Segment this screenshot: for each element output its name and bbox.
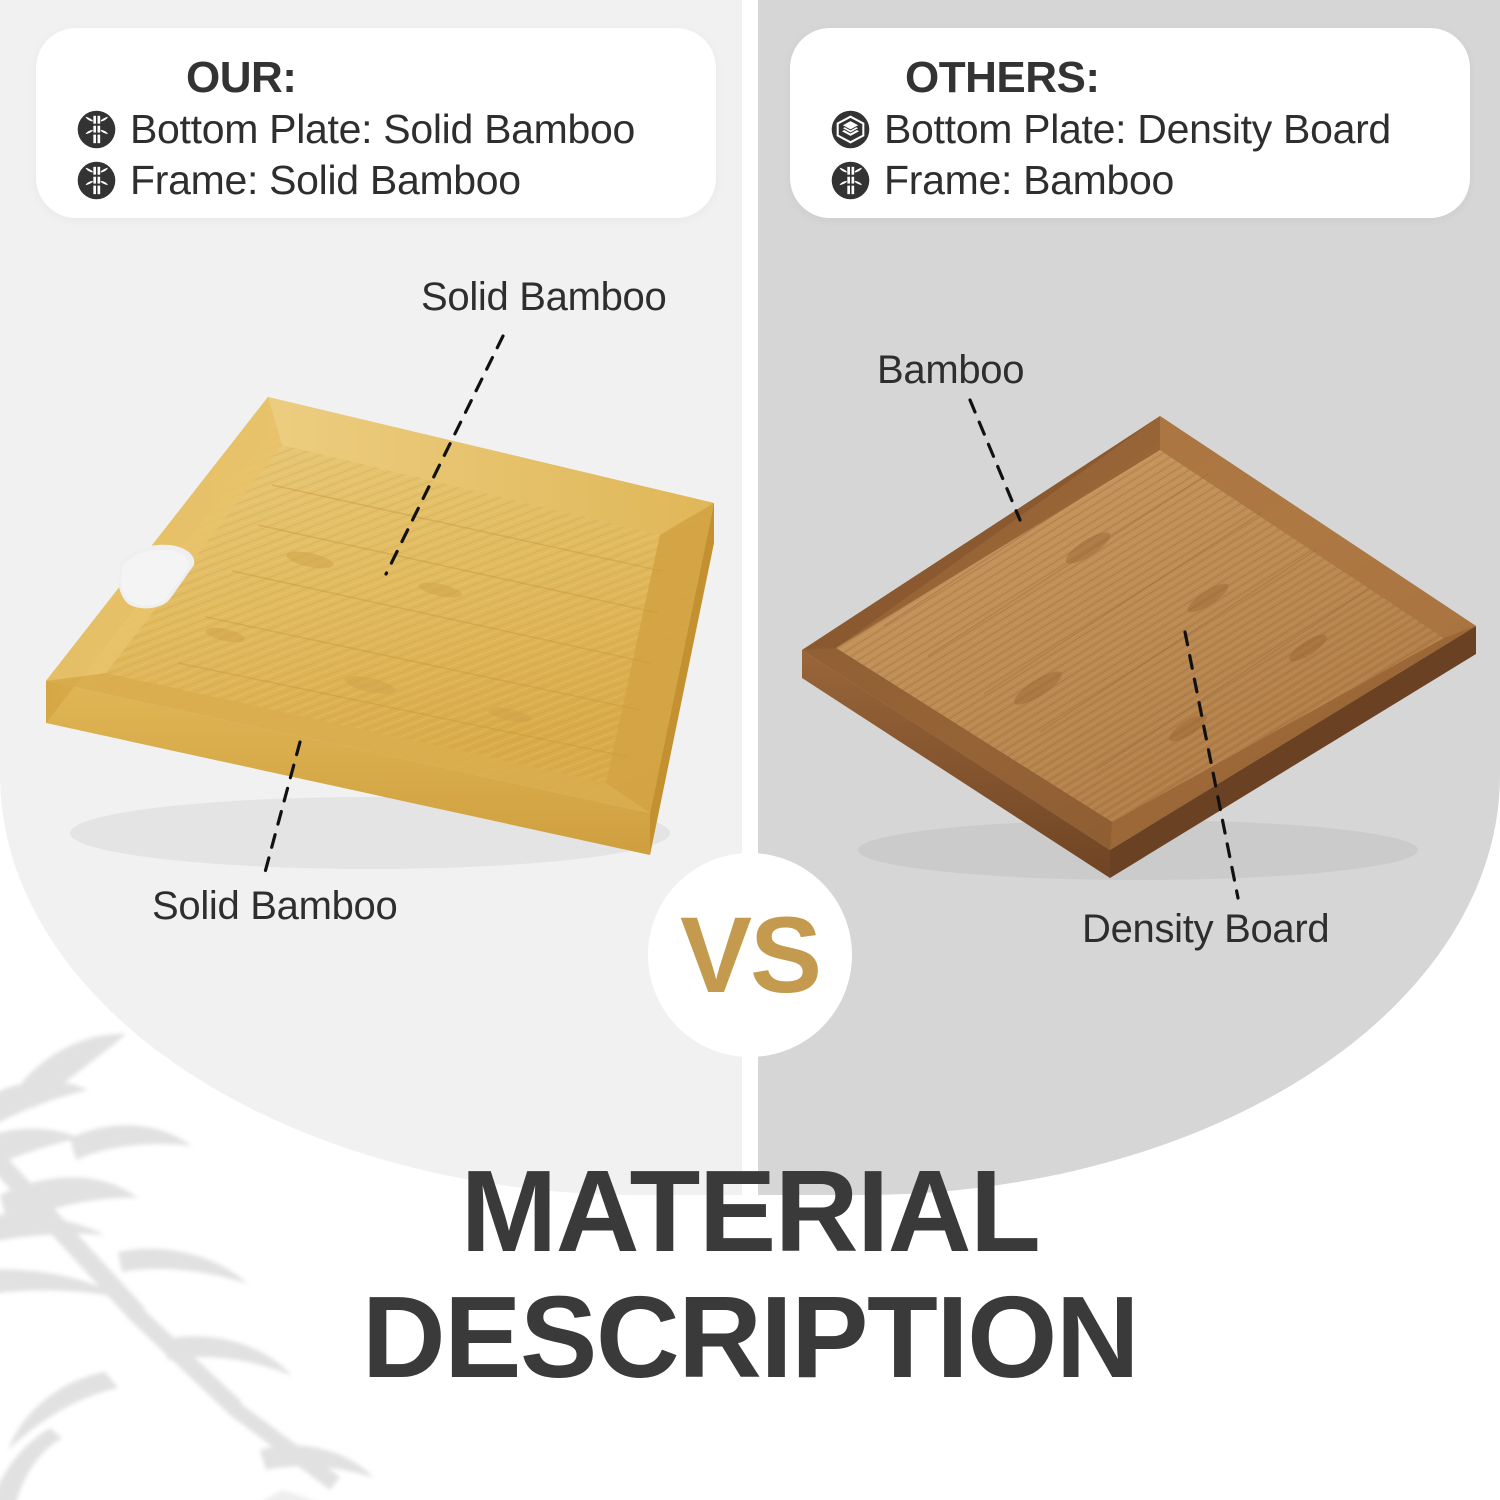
bamboo-stalk-icon (830, 160, 871, 201)
card-our-row-bottom-plate-label: Bottom Plate: Solid Bamboo (130, 106, 635, 153)
tray-image-our (10, 385, 730, 885)
card-others-title: OTHERS: (830, 54, 1430, 102)
bamboo-stalk-icon (76, 160, 117, 201)
card-our-row-frame: Frame: Solid Bamboo (76, 157, 676, 204)
page-title: MATERIAL DESCRIPTION (0, 1152, 1500, 1397)
card-our-row-frame-label: Frame: Solid Bamboo (130, 157, 521, 204)
page-title-line1: MATERIAL (0, 1152, 1500, 1270)
card-others-row-frame-label: Frame: Bamboo (884, 157, 1174, 204)
card-others-row-bottom-plate: Bottom Plate: Density Board (830, 106, 1430, 153)
vs-badge: VS (648, 853, 852, 1057)
callout-left-bottom: Solid Bamboo (152, 884, 397, 929)
page-title-line2: DESCRIPTION (0, 1278, 1500, 1396)
card-our-title: OUR: (76, 54, 676, 102)
bamboo-stalk-icon (76, 109, 117, 150)
card-our-row-bottom-plate: Bottom Plate: Solid Bamboo (76, 106, 676, 153)
info-card-others: OTHERS: Bottom Plate: Density Board (790, 28, 1470, 218)
tray-image-others (788, 398, 1488, 888)
info-card-our: OUR: Bottom Plate: Solid Bamboo (36, 28, 716, 218)
layered-board-icon (830, 109, 871, 150)
card-others-row-frame: Frame: Bamboo (830, 157, 1430, 204)
infographic-root: OUR: Bottom Plate: Solid Bamboo (0, 0, 1500, 1500)
callout-right-bottom: Density Board (1082, 907, 1329, 952)
callout-right-top: Bamboo (877, 348, 1024, 393)
callout-left-top: Solid Bamboo (421, 275, 666, 320)
card-others-row-bottom-plate-label: Bottom Plate: Density Board (884, 106, 1391, 153)
vs-label: VS (680, 901, 820, 1009)
